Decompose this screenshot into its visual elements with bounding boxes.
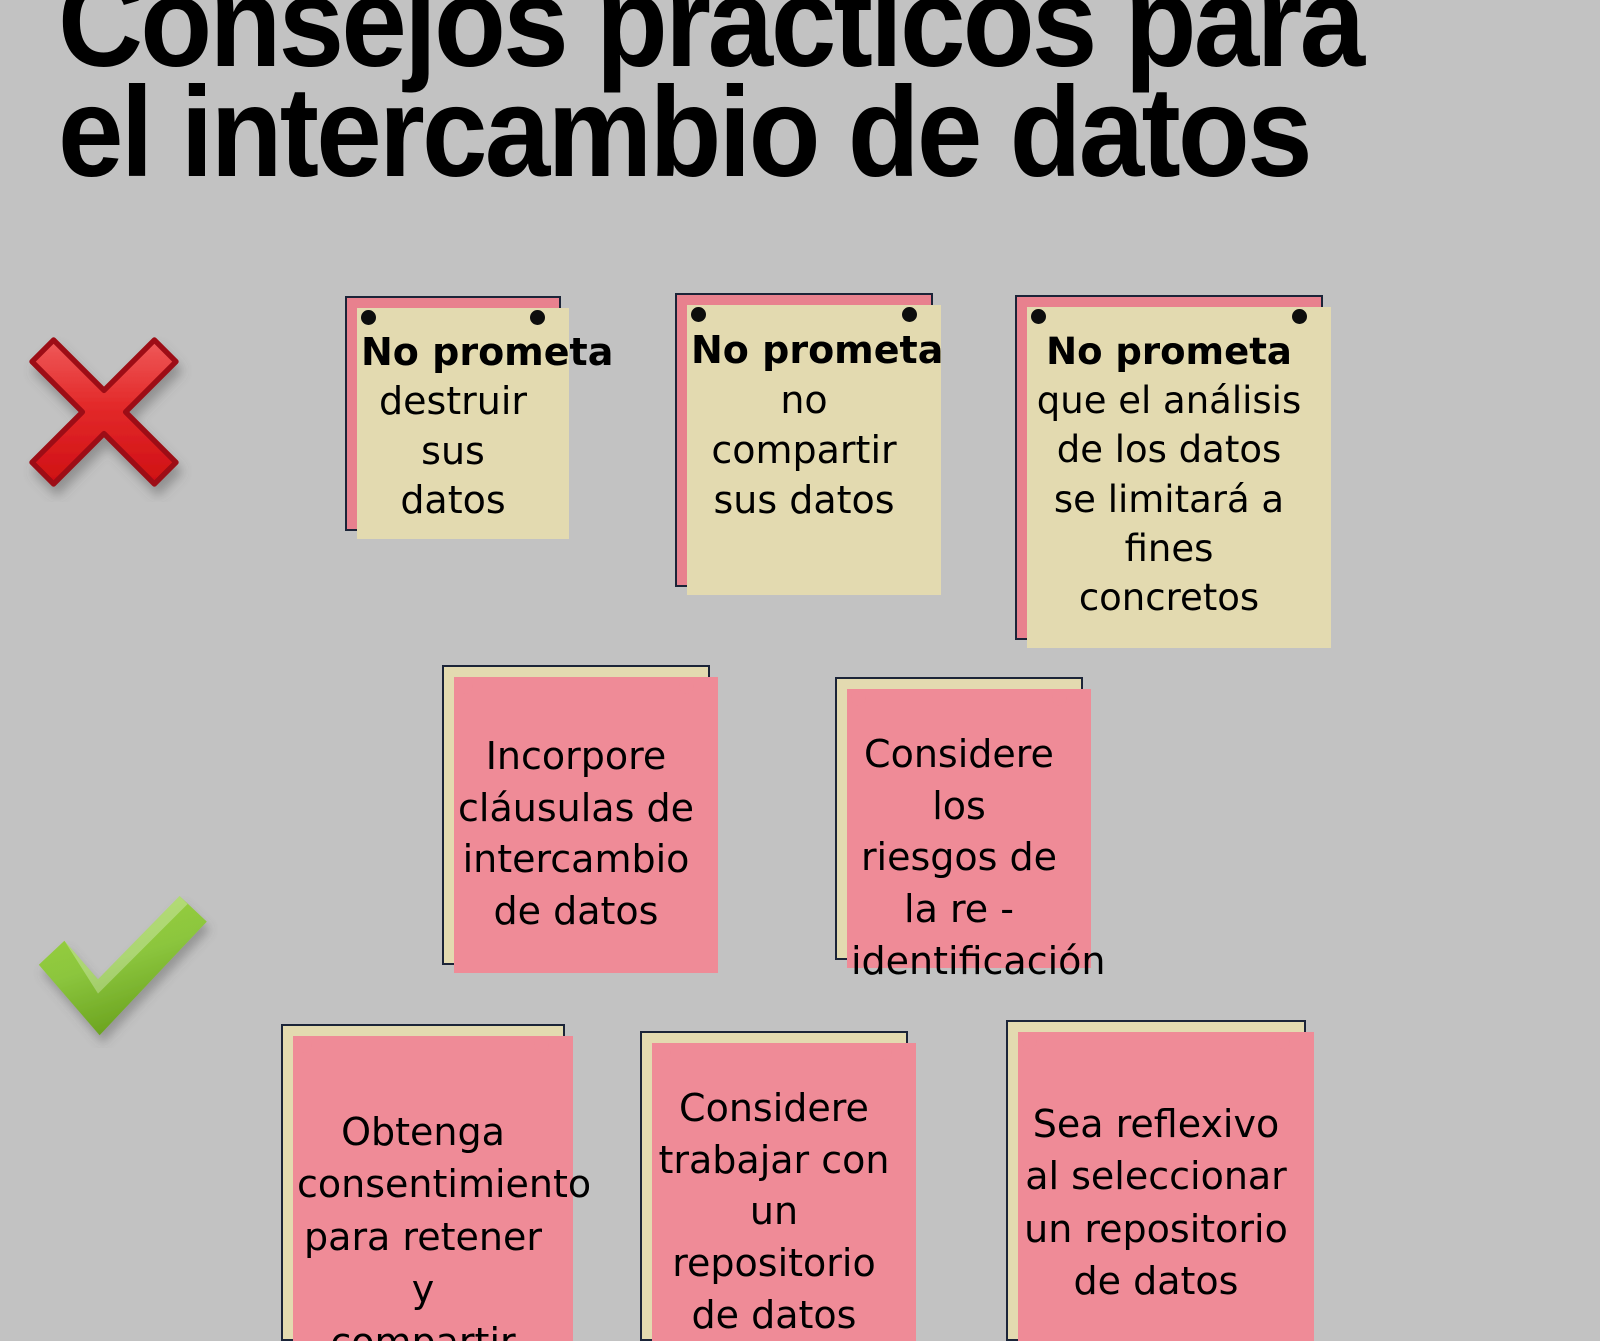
note-body: Incorpore cláusulas de intercambio de da… [458,731,694,938]
note-body: Obtenga consentimiento para retener y co… [297,1106,549,1341]
pin-dot-icon [530,310,545,325]
note-card-do-2[interactable]: Considere los riesgos de la re - identif… [835,677,1083,960]
note-card-text: Incorpore cláusulas de intercambio de da… [458,697,694,938]
note-body: Considere trabajar con un repositorio de… [656,1083,892,1341]
note-card-dont-1[interactable]: No prometa destruir sus datos [345,296,561,531]
red-x-icon [14,322,194,502]
note-body: destruir sus datos [361,377,545,525]
note-card-do-1[interactable]: Incorpore cláusulas de intercambio de da… [442,665,710,965]
note-card-do-5[interactable]: Sea reflexivo al seleccionar un reposito… [1006,1020,1306,1341]
note-lead: No prometa [1031,327,1307,376]
note-lead: No prometa [361,328,545,377]
pin-dot-icon [656,1045,671,1060]
note-body: que el análisis de los datos se limitará… [1031,376,1307,622]
note-card-text: No prometa que el análisis de los datos … [1031,327,1307,622]
note-card-text: Sea reflexivo al seleccionar un reposito… [1022,1052,1290,1308]
green-check-icon [22,888,222,1048]
note-body: no compartir sus datos [691,375,917,525]
pin-dot-icon [902,307,917,322]
note-card-text: Obtenga consentimiento para retener y co… [297,1056,549,1341]
note-card-text: No prometa destruir sus datos [361,328,545,526]
pin-dot-icon [297,1038,312,1053]
note-lead: No prometa [691,325,917,375]
pin-dot-icon [1031,309,1046,324]
pin-dot-icon [1052,691,1067,706]
pin-dot-icon [691,307,706,322]
pin-dot-icon [1292,309,1307,324]
pin-dot-icon [877,1045,892,1060]
pin-dot-icon [679,679,694,694]
note-card-dont-3[interactable]: No prometa que el análisis de los datos … [1015,295,1323,640]
pin-dot-icon [534,1038,549,1053]
page-title: Consejos prácticos para el intercambio d… [58,0,1410,188]
pin-dot-icon [1275,1034,1290,1049]
pin-dot-icon [1022,1034,1037,1049]
note-card-dont-2[interactable]: No prometa no compartir sus datos [675,293,933,587]
note-card-text: Considere trabajar con un repositorio de… [656,1063,892,1341]
infographic-poster: Consejos prácticos para el intercambio d… [0,0,1600,1341]
pin-dot-icon [361,310,376,325]
note-card-do-3[interactable]: Obtenga consentimiento para retener y co… [281,1024,565,1341]
note-card-text: No prometa no compartir sus datos [691,325,917,526]
note-card-do-4[interactable]: Considere trabajar con un repositorio de… [640,1031,908,1341]
note-body: Considere los riesgos de la re - identif… [851,729,1067,987]
note-body: Sea reflexivo al seleccionar un reposito… [1022,1098,1290,1308]
note-card-text: Considere los riesgos de la re - identif… [851,709,1067,987]
pin-dot-icon [851,691,866,706]
pin-dot-icon [458,679,473,694]
